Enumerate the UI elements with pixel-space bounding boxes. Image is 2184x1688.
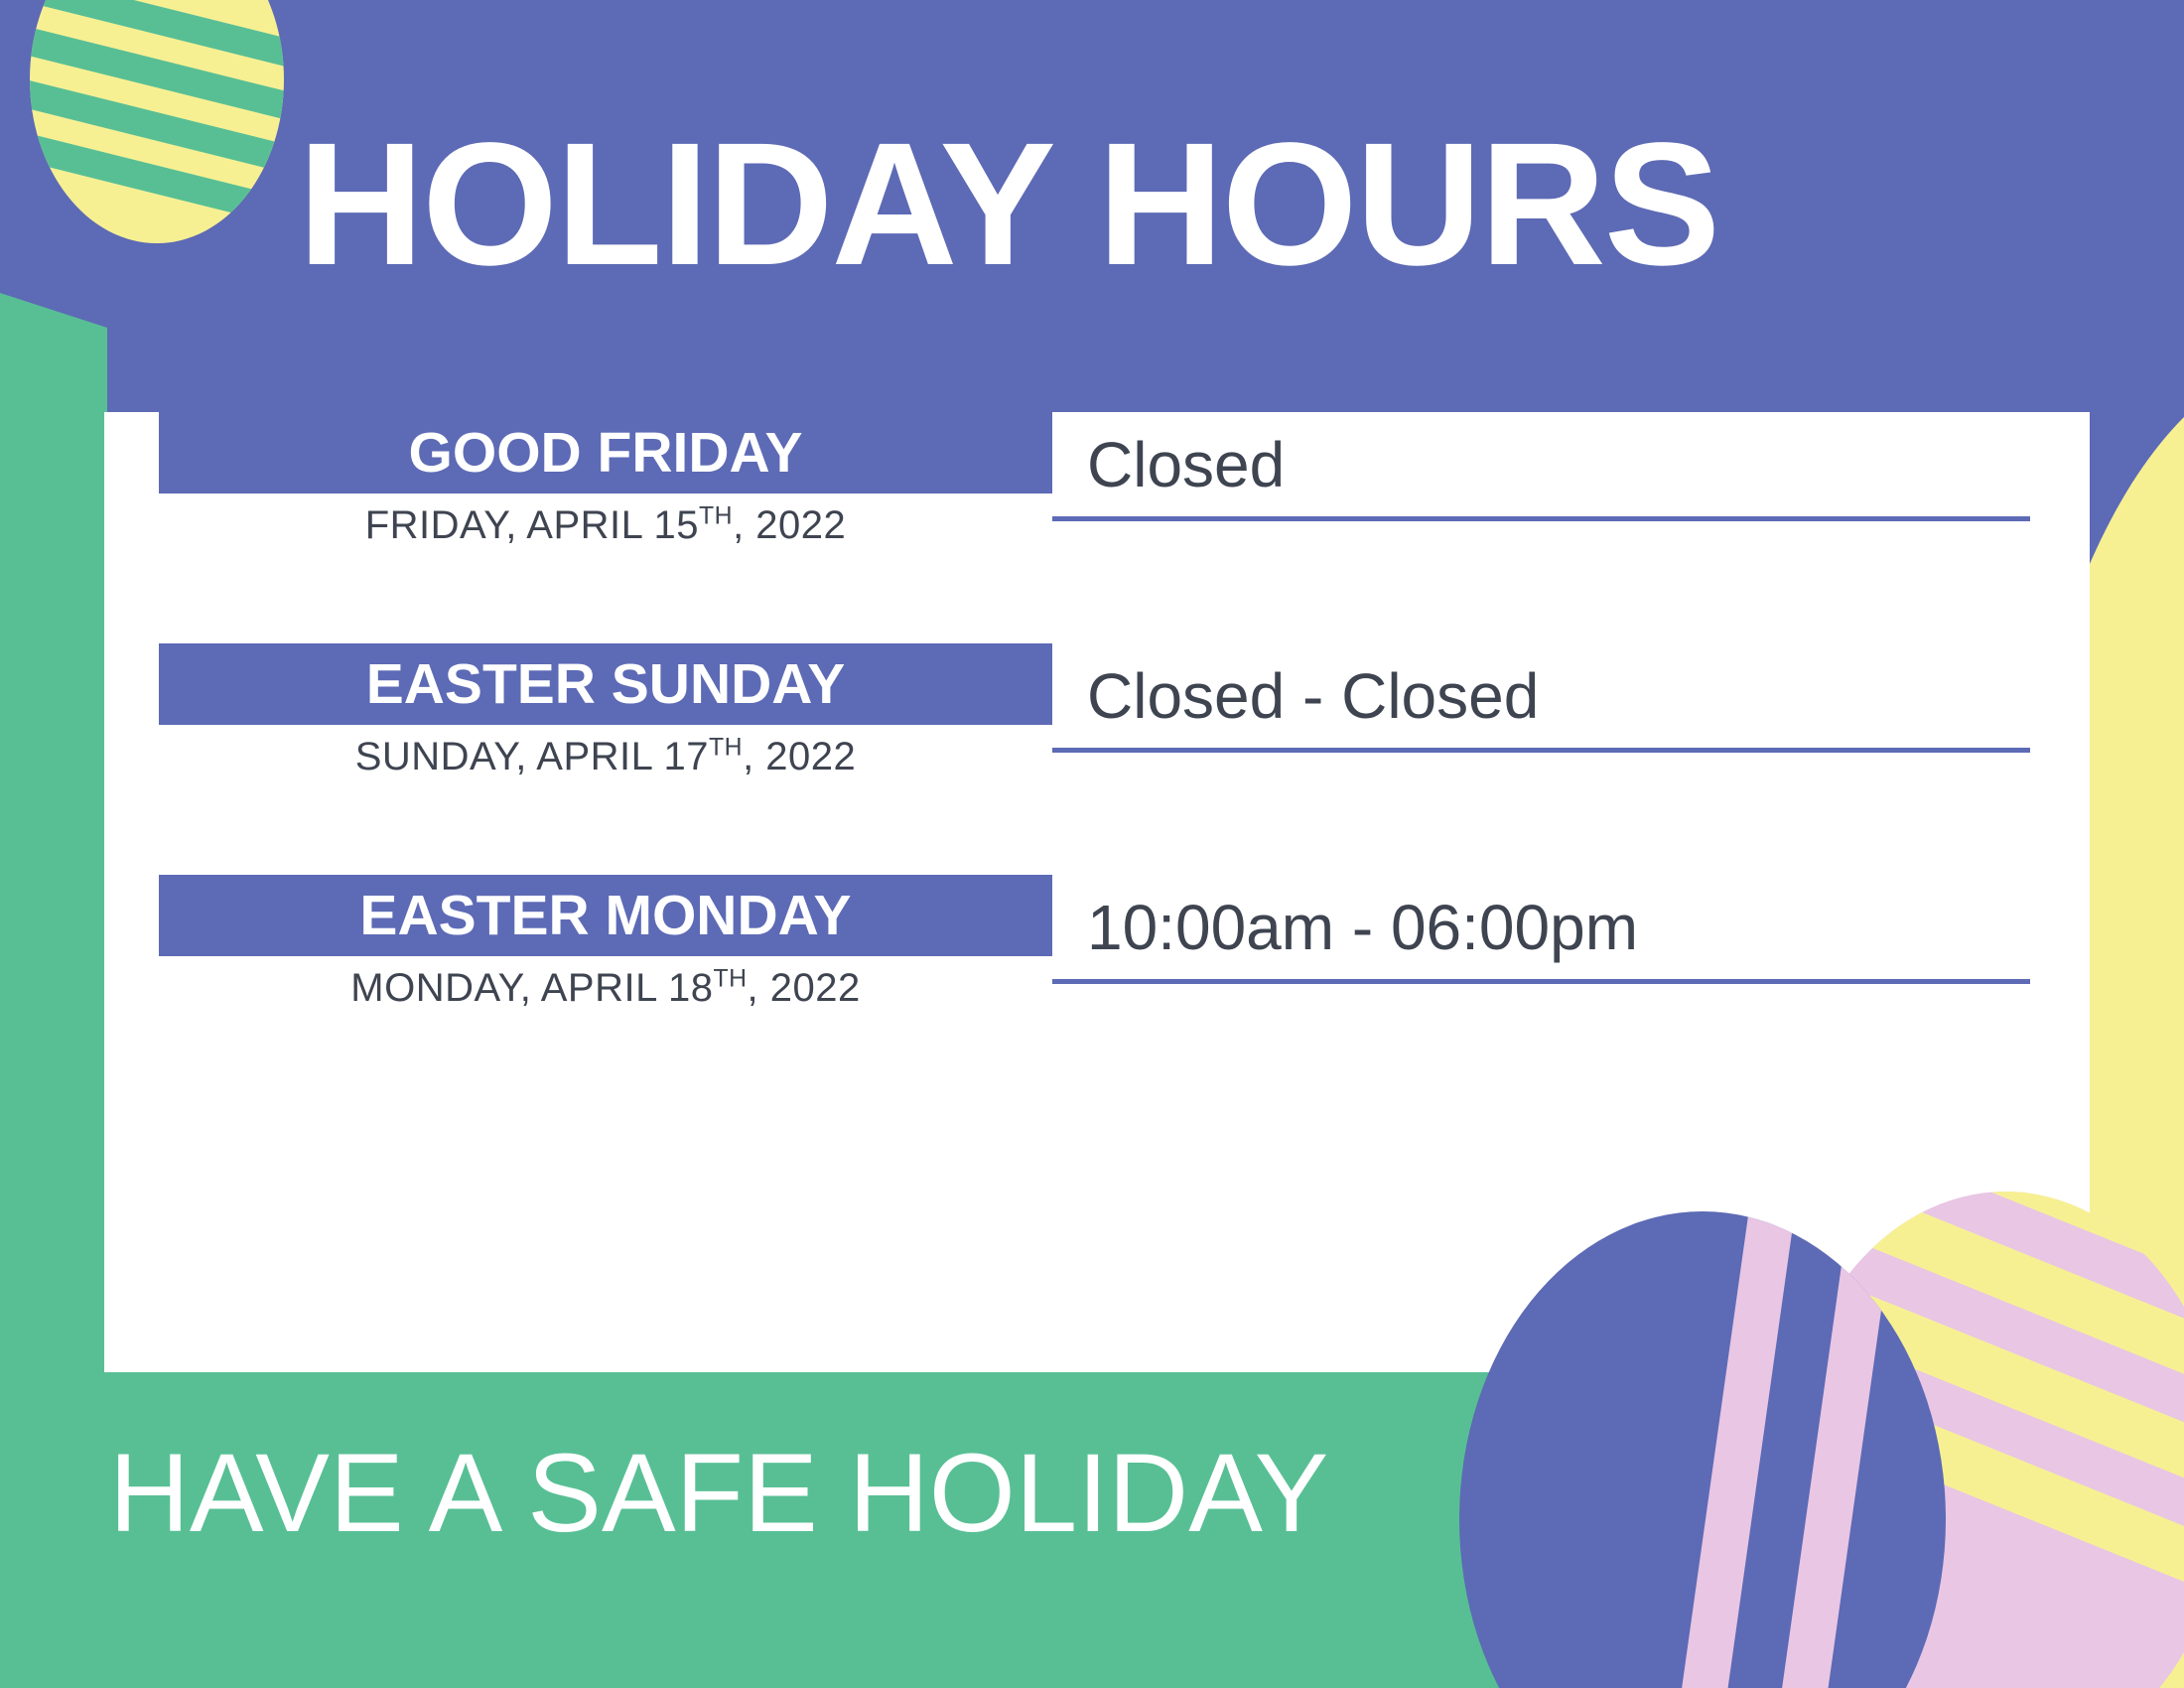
holiday-hours-field: 10:00am - 06:00pm (1052, 875, 2030, 984)
holiday-date-prefix: SUNDAY, APRIL 17 (355, 735, 709, 778)
holiday-name-label: EASTER MONDAY (359, 888, 851, 944)
holiday-date: SUNDAY, APRIL 17TH, 2022 (159, 735, 1052, 779)
holiday-hours-field: Closed (1052, 412, 2030, 521)
holiday-date: FRIDAY, APRIL 15TH, 2022 (159, 503, 1052, 548)
table-row: GOOD FRIDAY FRIDAY, APRIL 15TH, 2022 Clo… (104, 412, 2090, 650)
holiday-date-suffix: , 2022 (733, 503, 846, 547)
holiday-hours-field: Closed - Closed (1052, 643, 2030, 753)
holiday-date-ordinal: TH (709, 735, 743, 762)
holiday-date-suffix: , 2022 (743, 735, 856, 778)
holiday-hours-value: Closed - Closed (1052, 659, 1539, 733)
holiday-date: MONDAY, APRIL 18TH, 2022 (159, 966, 1052, 1011)
holiday-name-bar: GOOD FRIDAY (159, 412, 1052, 493)
holiday-hours-value: Closed (1052, 428, 1285, 501)
holiday-date-ordinal: TH (699, 503, 733, 530)
holiday-date-suffix: , 2022 (748, 966, 861, 1010)
holiday-name-bar: EASTER MONDAY (159, 875, 1052, 956)
easter-egg-topleft-base (30, 0, 284, 243)
table-row: EASTER SUNDAY SUNDAY, APRIL 17TH, 2022 C… (104, 643, 2090, 882)
holiday-name-label: EASTER SUNDAY (366, 656, 846, 713)
holiday-date-prefix: FRIDAY, APRIL 15 (365, 503, 699, 547)
page-title: HOLIDAY HOURS (298, 117, 1985, 292)
holiday-date-ordinal: TH (713, 966, 747, 993)
holiday-name-bar: EASTER SUNDAY (159, 643, 1052, 725)
table-row: EASTER MONDAY MONDAY, APRIL 18TH, 2022 1… (104, 875, 2090, 1113)
content-card: GOOD FRIDAY FRIDAY, APRIL 15TH, 2022 Clo… (104, 412, 2090, 1372)
holiday-name-label: GOOD FRIDAY (409, 425, 803, 482)
holiday-hours-poster: HOLIDAY HOURS GOOD FRIDAY FRIDAY, APRIL … (0, 0, 2184, 1688)
footer-message: HAVE A SAFE HOLIDAY (109, 1438, 1328, 1549)
holiday-date-prefix: MONDAY, APRIL 18 (350, 966, 713, 1010)
holiday-hours-value: 10:00am - 06:00pm (1052, 891, 1638, 964)
